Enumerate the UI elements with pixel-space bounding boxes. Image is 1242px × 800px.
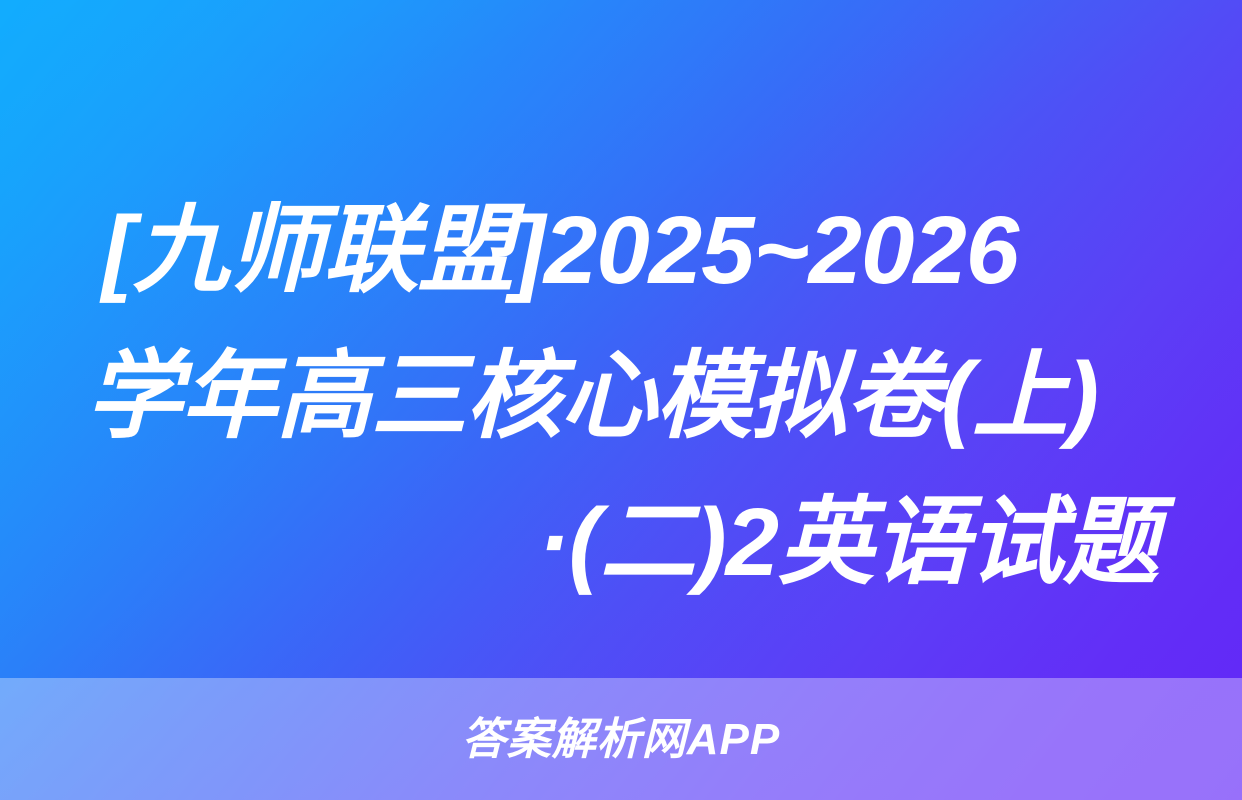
page-title-line-2: 学年高三核心模拟卷(上) bbox=[86, 324, 1164, 470]
page-title: [九师联盟]2025~2026 学年高三核心模拟卷(上) ·(二)2英语试题 bbox=[86, 178, 1164, 616]
footer-watermark-band: 答案解析网APP bbox=[0, 678, 1242, 800]
page-title-line-3: ·(二)2英语试题 bbox=[86, 470, 1164, 616]
poster-canvas: [九师联盟]2025~2026 学年高三核心模拟卷(上) ·(二)2英语试题 答… bbox=[0, 0, 1242, 800]
footer-watermark-text: 答案解析网APP bbox=[462, 718, 780, 762]
page-title-line-1: [九师联盟]2025~2026 bbox=[86, 178, 1164, 324]
